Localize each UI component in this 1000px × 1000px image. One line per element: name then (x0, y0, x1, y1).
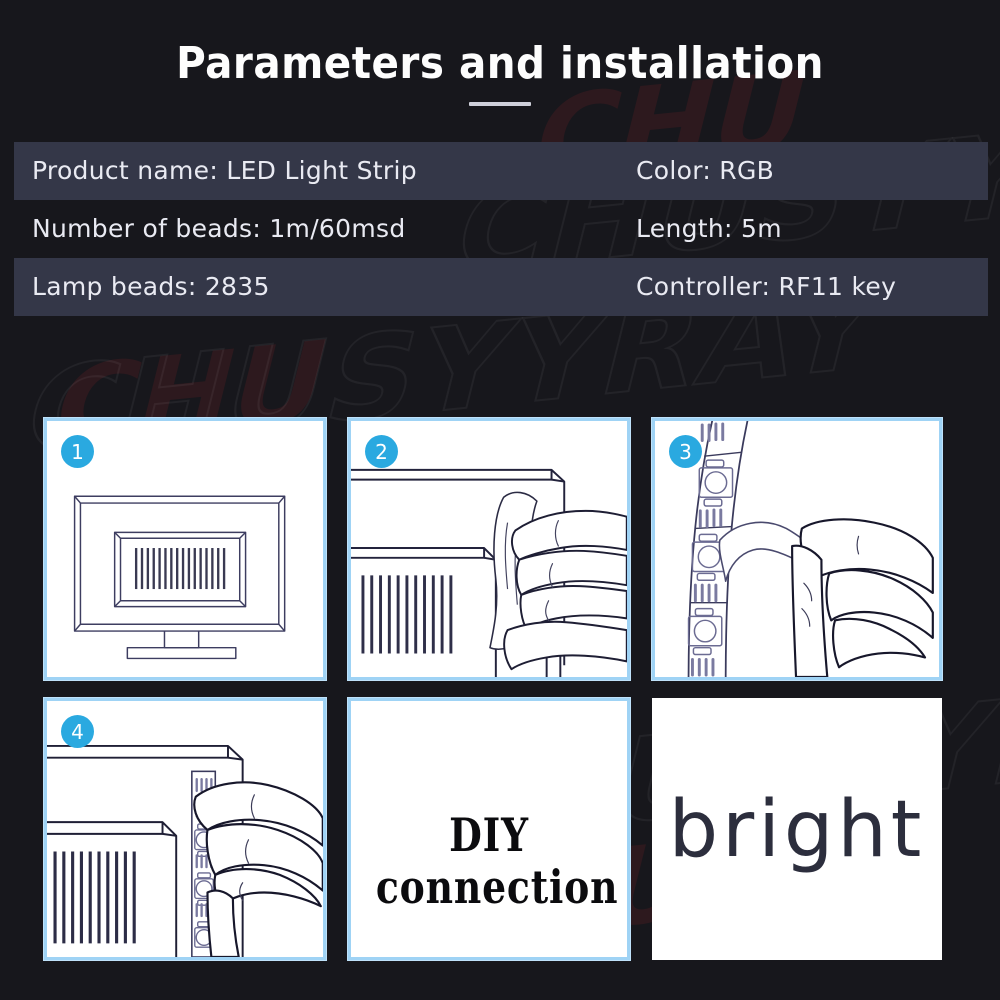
spec-lamp-beads: Lamp beads: 2835 (32, 272, 636, 302)
panel-diy-connection: DIY connection (348, 698, 630, 960)
spec-number-of-beads: Number of beads: 1m/60msd (32, 214, 636, 244)
spec-length: Length: 5m (636, 214, 988, 244)
panel-bright: bright (652, 698, 942, 960)
step-badge-4: 4 (61, 715, 94, 748)
table-row: Product name: LED Light Strip Color: RGB (14, 142, 988, 200)
page-title: Parameters and installation (40, 38, 960, 90)
step-panel-1: 1 (44, 418, 326, 680)
bright-label: bright (652, 784, 942, 876)
page-header: Parameters and installation (0, 38, 1000, 106)
installation-steps-grid: 1 (44, 418, 954, 960)
step-panel-4: 4 (44, 698, 326, 960)
diy-connection-label: DIY connection (376, 809, 602, 913)
step-badge-2: 2 (365, 435, 398, 468)
title-underline-rule (469, 102, 531, 106)
spec-controller: Controller: RF11 key (636, 272, 988, 302)
specification-table: Product name: LED Light Strip Color: RGB… (14, 142, 988, 316)
spec-color: Color: RGB (636, 156, 988, 186)
step-badge-3: 3 (669, 435, 702, 468)
table-row: Lamp beads: 2835 Controller: RF11 key (14, 258, 988, 316)
table-row: Number of beads: 1m/60msd Length: 5m (14, 200, 988, 258)
step-badge-1: 1 (61, 435, 94, 468)
step-panel-3: 3 (652, 418, 942, 680)
step-panel-2: 2 (348, 418, 630, 680)
product-infographic: CHU CHU CHU CHUSYYRAY CHUSYYRAY CHUSYYRA… (0, 0, 1000, 1000)
spec-product-name: Product name: LED Light Strip (32, 156, 636, 186)
